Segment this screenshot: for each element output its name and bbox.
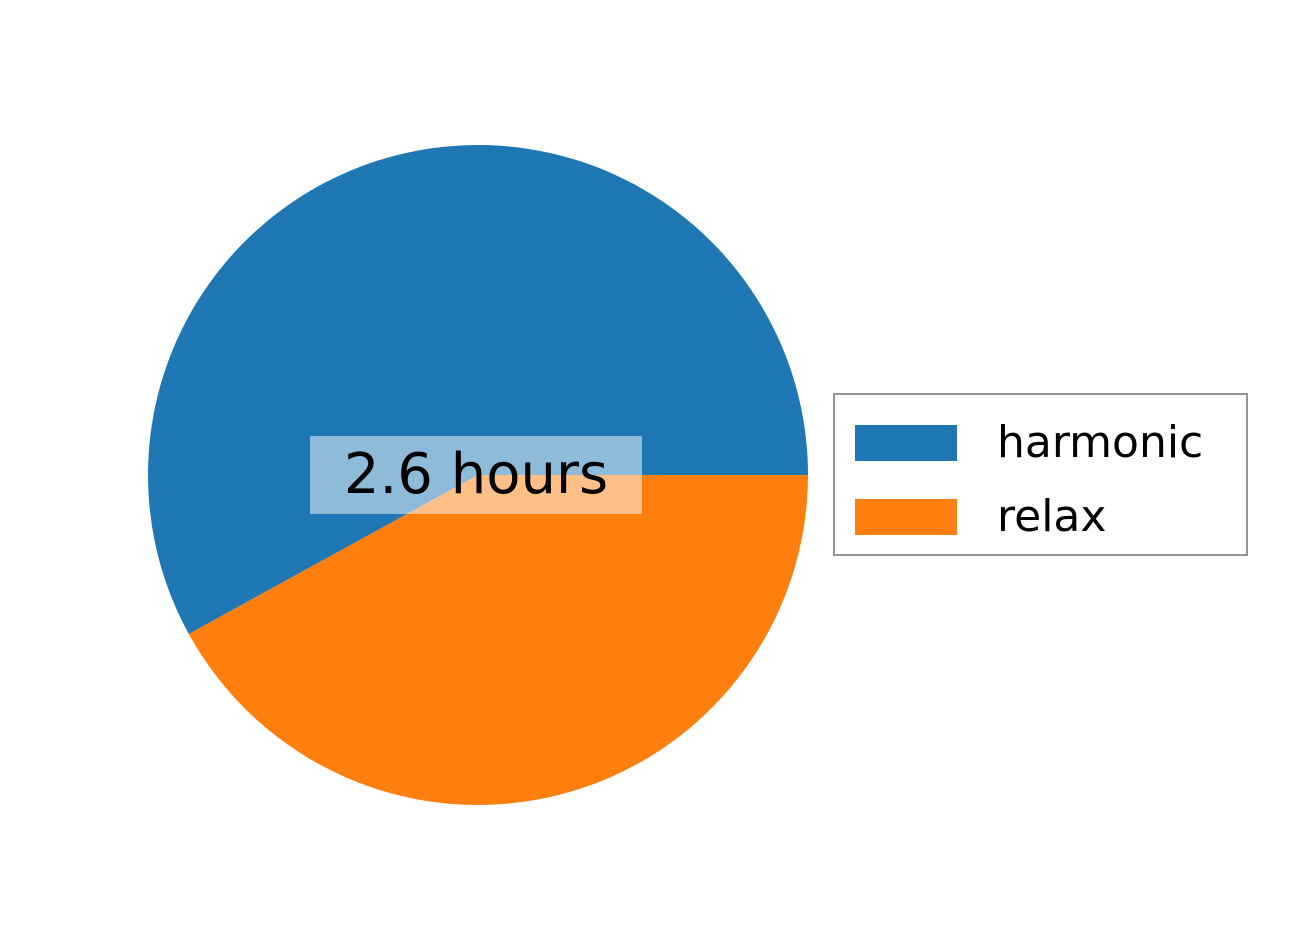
legend-entry-relax[interactable]: relax xyxy=(835,479,1246,555)
legend-label-harmonic: harmonic xyxy=(997,421,1203,465)
chart-legend: harmonic relax xyxy=(833,393,1248,556)
pie-slice-value-label: 2.6 hours xyxy=(310,436,642,514)
legend-color-swatch-harmonic xyxy=(855,425,957,461)
pie-chart-figure: 2.6 hours harmonic relax xyxy=(0,0,1307,951)
legend-label-relax: relax xyxy=(997,495,1106,539)
legend-entry-harmonic[interactable]: harmonic xyxy=(835,405,1246,481)
legend-color-swatch-relax xyxy=(855,499,957,535)
